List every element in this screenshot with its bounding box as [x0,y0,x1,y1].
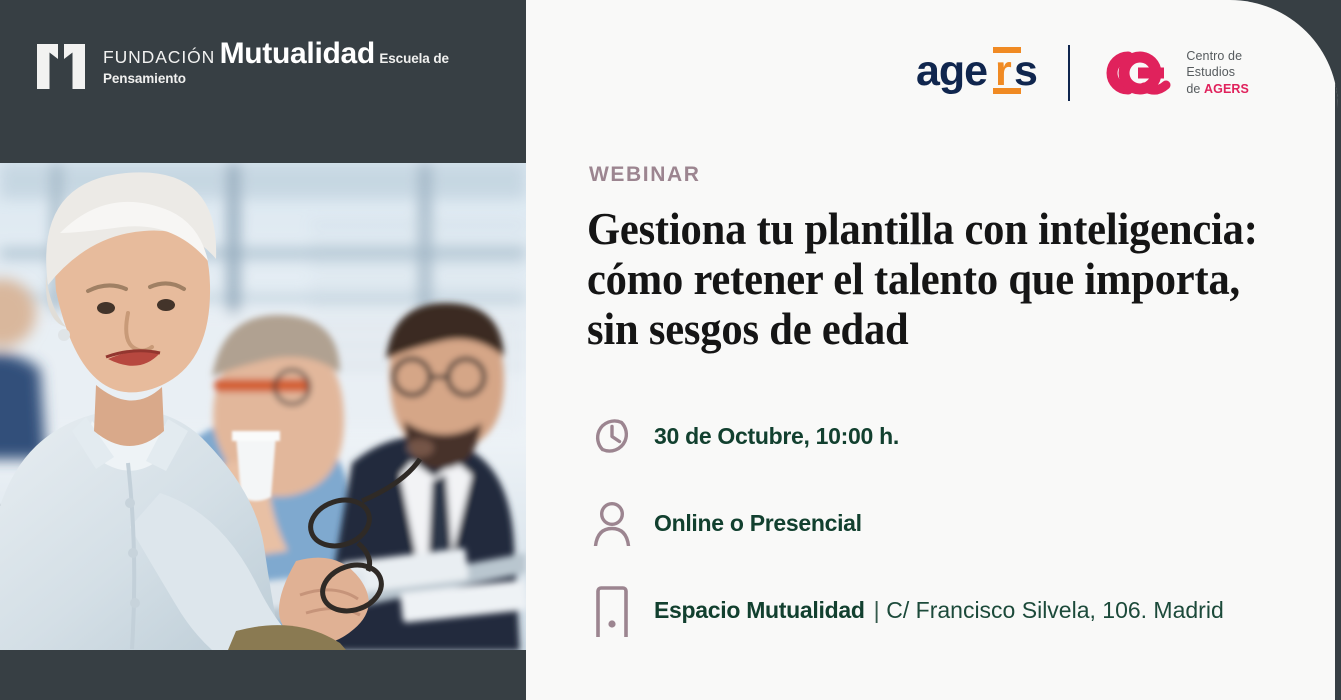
brand-mutualidad: Mutualidad [220,37,375,70]
agers-logo: age r s [916,41,1044,104]
place-separator: | [874,597,880,623]
eyebrow-label: WEBINAR [589,163,701,187]
mode-text: Online o Presencial [654,510,862,537]
title-line-2: cómo retener el talento que importa, [587,255,1277,305]
clock-icon [590,414,642,458]
right-edge-strip [1335,0,1338,700]
door-icon [590,583,642,637]
partner-logos: age r s Centro de Estudi [916,41,1249,104]
info-row-place: Espacio Mutualidad|C/ Francisco Silvela,… [590,583,1224,637]
left-dark-panel: FUNDACIÓN Mutualidad Escuela de Pensamie… [0,0,526,700]
person-icon [590,500,642,546]
brand-text-block: FUNDACIÓN Mutualidad Escuela de Pensamie… [103,38,526,88]
ce-line-3-strong: AGERS [1204,82,1249,96]
svg-text:age: age [916,47,987,95]
brand-fundacion: FUNDACIÓN [103,47,215,67]
ce-line-1: Centro de [1186,48,1249,65]
audience-photo [0,163,526,650]
ce-line-2: Estudios [1186,64,1249,81]
centro-de-estudios-de-agers-logo: Centro de Estudios de AGERS [1098,48,1249,98]
fundacion-mutualidad-logo: FUNDACIÓN Mutualidad Escuela de Pensamie… [36,38,526,90]
date-time-text: 30 de Octubre, 10:00 h. [654,423,899,450]
place-address: C/ Francisco Silvela, 106. Madrid [886,597,1223,623]
logo-divider [1068,45,1070,101]
ce-logo-text: Centro de Estudios de AGERS [1186,48,1249,98]
title-line-1: Gestiona tu plantilla con inteligencia: [587,205,1277,255]
svg-text:r: r [995,47,1012,95]
ce-monogram-icon [1098,48,1176,98]
place-text: Espacio Mutualidad|C/ Francisco Silvela,… [654,597,1224,624]
title-line-3: sin sesgos de edad [587,305,1277,355]
ce-line-3-prefix: de [1186,82,1204,96]
mutualidad-m-icon [36,43,86,90]
info-row-mode: Online o Presencial [590,500,862,546]
webinar-poster: FUNDACIÓN Mutualidad Escuela de Pensamie… [0,0,1341,700]
page-title: Gestiona tu plantilla con inteligencia: … [587,205,1277,355]
info-row-date: 30 de Octubre, 10:00 h. [590,414,899,458]
svg-text:s: s [1014,47,1038,95]
place-name: Espacio Mutualidad [654,597,865,623]
ce-line-3: de AGERS [1186,81,1249,98]
